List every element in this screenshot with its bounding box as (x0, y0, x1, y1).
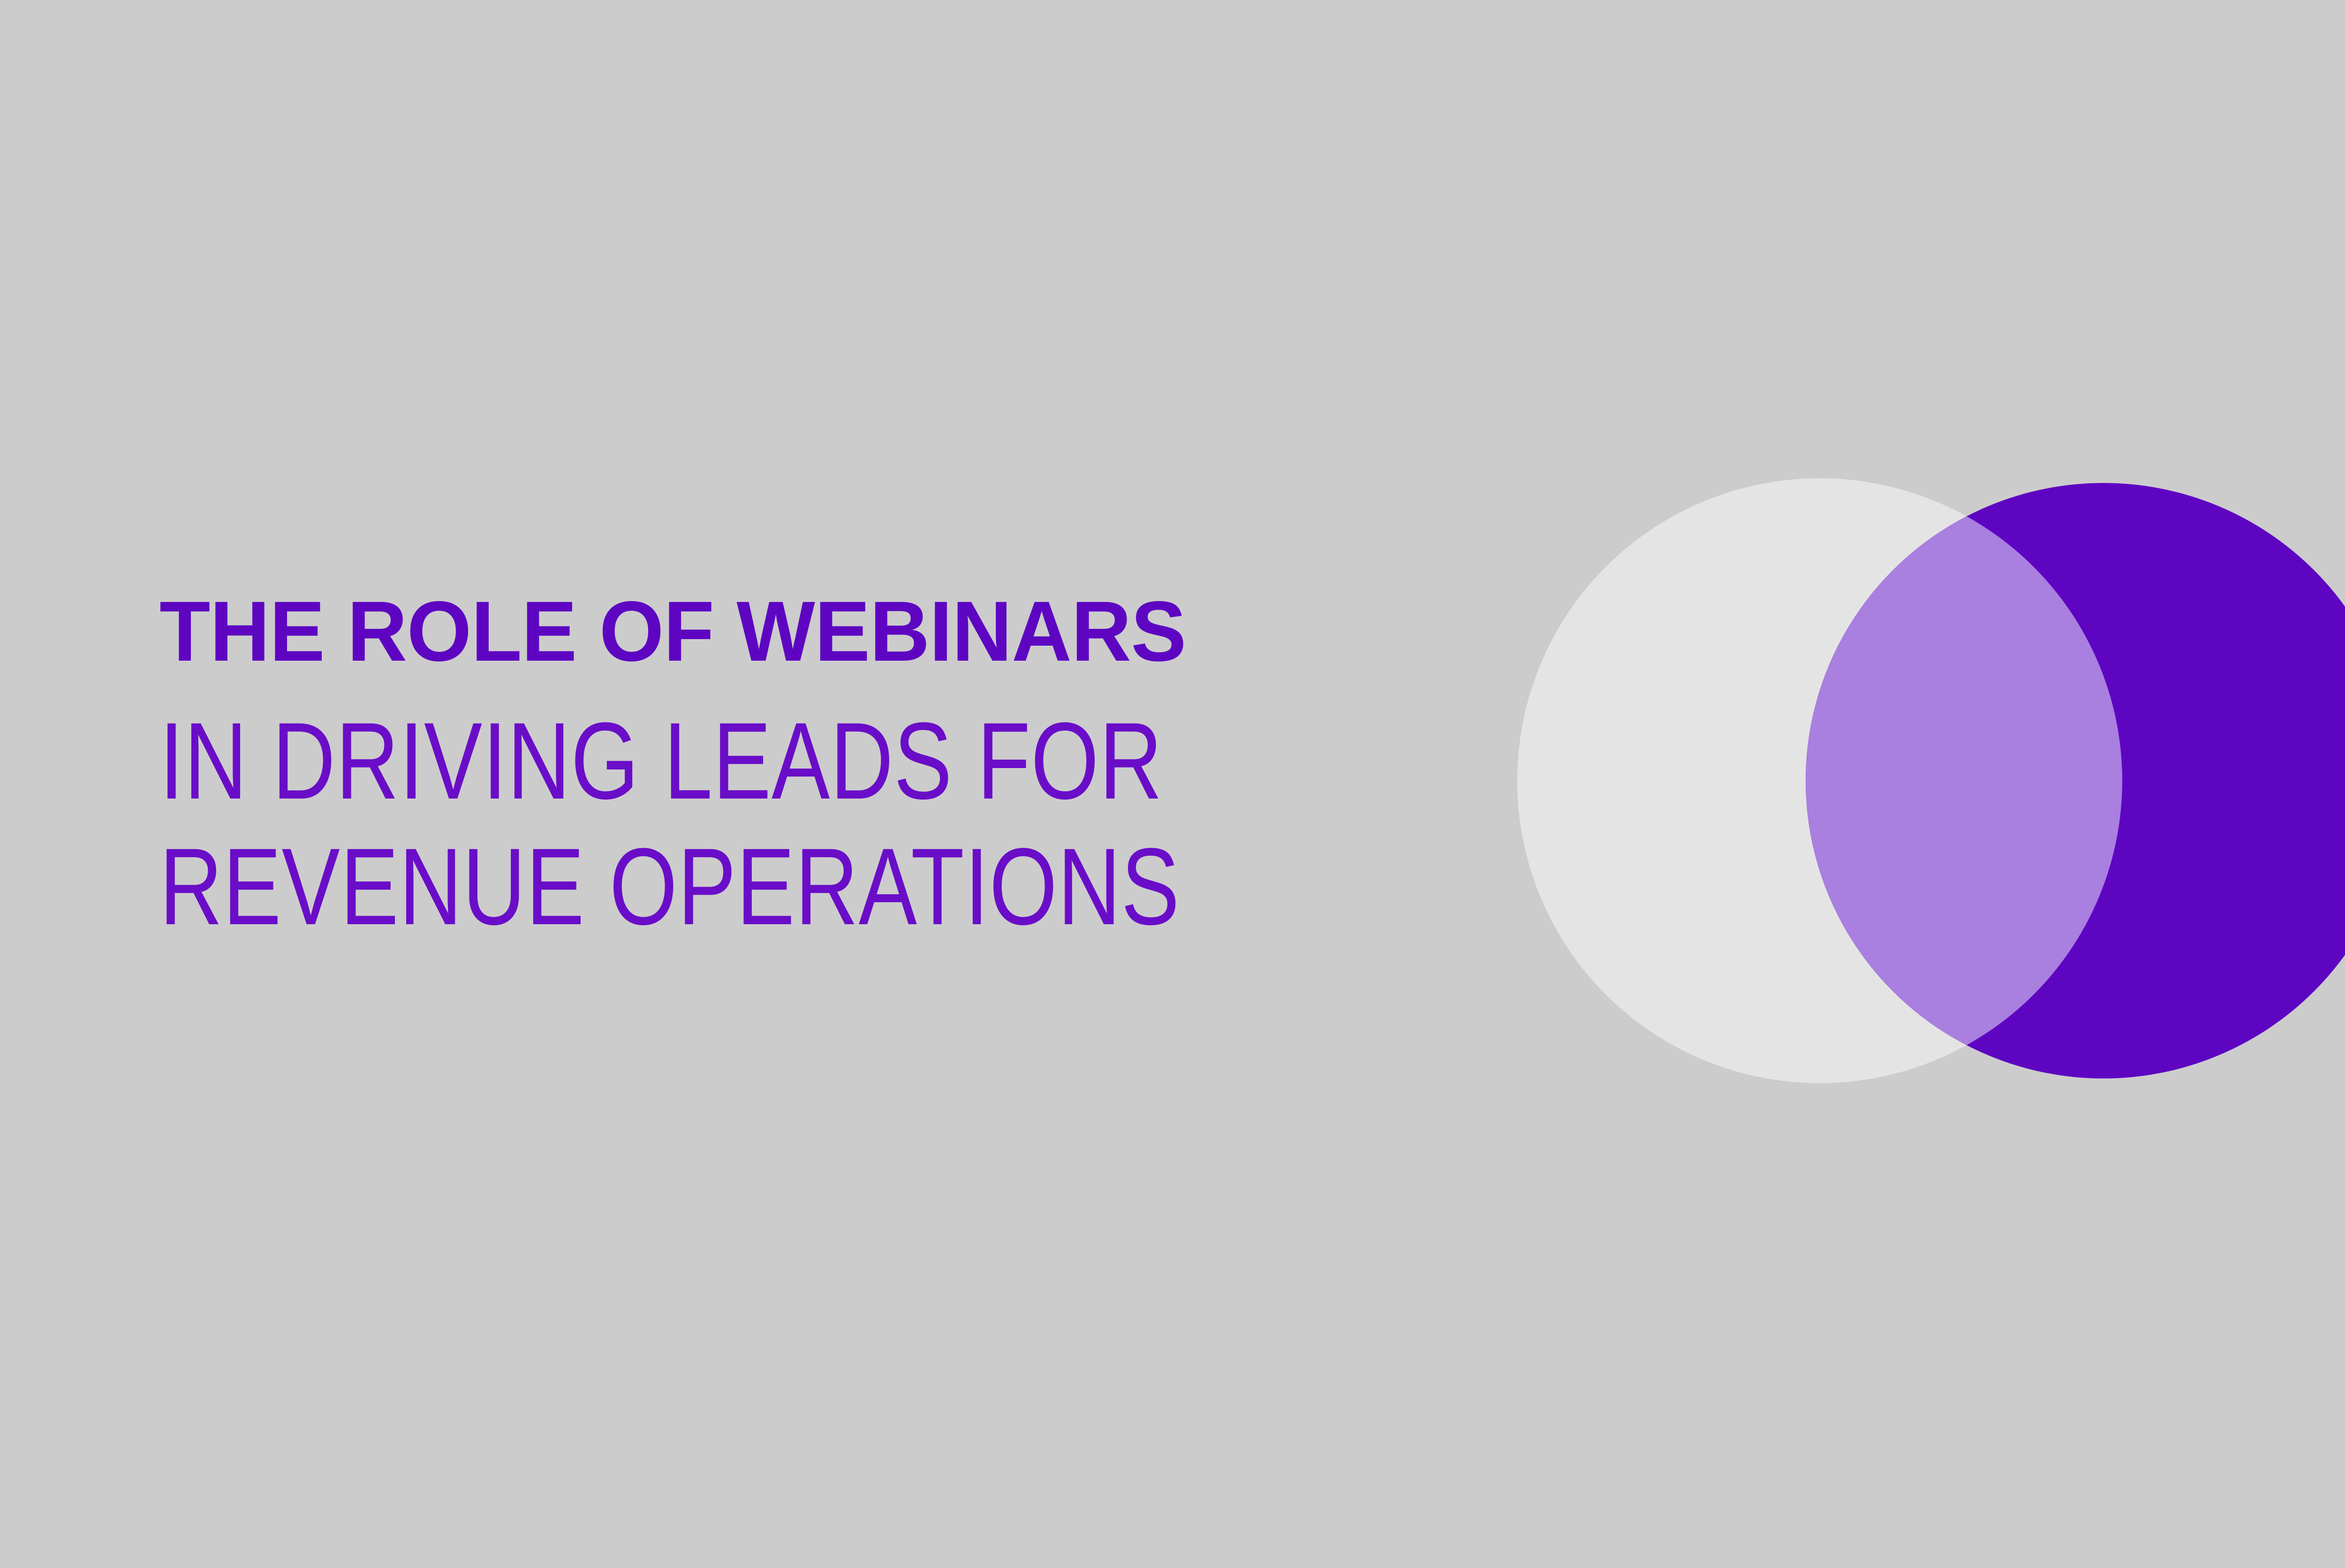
subtitle-line-2: REVENUE OPERATIONS (159, 824, 1435, 950)
page-title: THE ROLE OF WEBINARS (159, 588, 1714, 674)
subtitle-line-1: IN DRIVING LEADS FOR (159, 698, 1435, 824)
slide-canvas: THE ROLE OF WEBINARS IN DRIVING LEADS FO… (0, 0, 2345, 1568)
subtitle-group: IN DRIVING LEADS FOR REVENUE OPERATIONS (159, 698, 1754, 950)
title-block: THE ROLE OF WEBINARS IN DRIVING LEADS FO… (159, 588, 1754, 950)
